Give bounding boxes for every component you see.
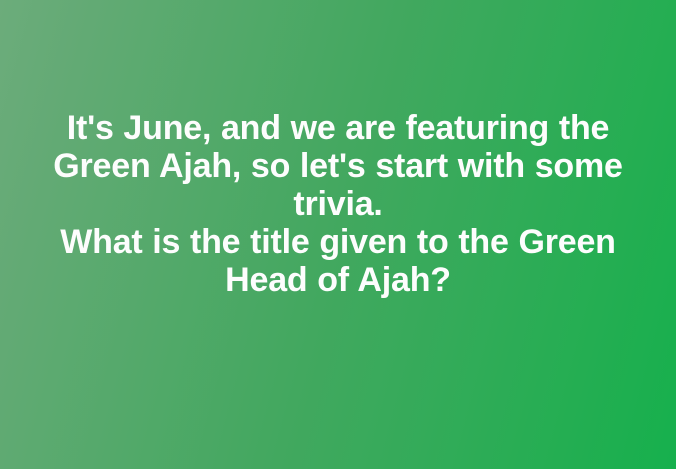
slide-body-text: It's June, and we are featuring the Gree… [26, 109, 651, 361]
slide-canvas: It's June, and we are featuring the Gree… [0, 0, 676, 469]
